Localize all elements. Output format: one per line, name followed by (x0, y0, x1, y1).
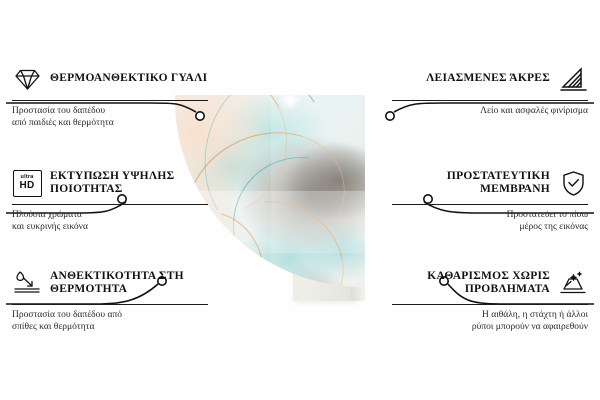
product-image (175, 95, 420, 325)
feature-title: ΛΕΙΑΣΜΕΝΕΣ ΆΚΡΕΣ (426, 72, 550, 86)
feature-description: Προστατεύει το πίσω μέρος της εικόνας (392, 210, 588, 233)
infographic-page: ΘΕΡΜΟΑΝΘΕΚΤΙΚΟ ΓΥΑΛΙ Προστασία του δαπέδ… (0, 0, 600, 400)
hd-badge-hd-label: HD (19, 181, 34, 191)
feature-description: Πλούσια χρώματα και ευκρινής εικόνα (12, 210, 208, 233)
feature-description: Λείο και ασφαλές φινίρισμα (392, 106, 588, 118)
ultra-hd-badge-icon: ultra HD (12, 168, 42, 198)
feature-description: Προστασία του δαπέδου από παιδιές και θε… (12, 106, 208, 129)
feature-high-quality-print: ultra HD ΕΚΤΥΠΩΣΗ ΥΨΗΛΗΣ ΠΟΙΟΤΗΤΑΣ Πλούσ… (12, 166, 208, 233)
feature-divider (12, 204, 208, 205)
flame-deflect-icon (12, 268, 42, 298)
feature-title: ΘΕΡΜΟΑΝΘΕΚΤΙΚΟ ΓΥΑΛΙ (50, 72, 207, 86)
feature-divider (392, 100, 588, 101)
feature-divider (12, 100, 208, 101)
feature-title: ΠΡΟΣΤΑΤΕΥΤΙΚΗ ΜΕΜΒΡΑΝΗ (392, 170, 550, 197)
feature-header: ΚΑΘΑΡΙΣΜΟΣ ΧΩΡΙΣ ΠΡΟΒΛΗΜΑΤΑ (392, 266, 588, 300)
feature-title: ΚΑΘΑΡΙΣΜΟΣ ΧΩΡΙΣ ΠΡΟΒΛΗΜΑΤΑ (392, 270, 550, 297)
hd-badge: ultra HD (13, 170, 42, 197)
feature-heat-durability: ΑΝΘΕΚΤΙΚΟΤΗΤΑ ΣΤΗ ΘΕΡΜΟΤΗΤΑ Προστασία το… (12, 266, 208, 333)
feature-description: Η αιθάλη, η στάχτη ή άλλοι ρύποι μπορούν… (392, 310, 588, 333)
feature-title: ΕΚΤΥΠΩΣΗ ΥΨΗΛΗΣ ΠΟΙΟΤΗΤΑΣ (50, 170, 208, 197)
diamond-icon (12, 64, 42, 94)
sparkle-clean-icon (558, 268, 588, 298)
feature-easy-cleaning: ΚΑΘΑΡΙΣΜΟΣ ΧΩΡΙΣ ΠΡΟΒΛΗΜΑΤΑ Η αιθάλη, η … (392, 266, 588, 333)
feature-protective-membrane: ΠΡΟΣΤΑΤΕΥΤΙΚΗ ΜΕΜΒΡΑΝΗ Προστατεύει το πί… (392, 166, 588, 233)
feature-heat-resistant-glass: ΘΕΡΜΟΑΝΘΕΚΤΙΚΟ ΓΥΑΛΙ Προστασία του δαπέδ… (12, 62, 208, 129)
shield-check-icon (558, 168, 588, 198)
feature-divider (12, 304, 208, 305)
polished-edge-icon (558, 64, 588, 94)
feature-header: ΠΡΟΣΤΑΤΕΥΤΙΚΗ ΜΕΜΒΡΑΝΗ (392, 166, 588, 200)
feature-header: ΘΕΡΜΟΑΝΘΕΚΤΙΚΟ ΓΥΑΛΙ (12, 62, 208, 96)
feature-divider (392, 304, 588, 305)
feature-header: ultra HD ΕΚΤΥΠΩΣΗ ΥΨΗΛΗΣ ΠΟΙΟΤΗΤΑΣ (12, 166, 208, 200)
feature-header: ΑΝΘΕΚΤΙΚΟΤΗΤΑ ΣΤΗ ΘΕΡΜΟΤΗΤΑ (12, 266, 208, 300)
feature-header: ΛΕΙΑΣΜΕΝΕΣ ΆΚΡΕΣ (392, 62, 588, 96)
feature-description: Προστασία του δαπέδου από σπίθες και θερ… (12, 310, 208, 333)
feature-divider (392, 204, 588, 205)
feature-title: ΑΝΘΕΚΤΙΚΟΤΗΤΑ ΣΤΗ ΘΕΡΜΟΤΗΤΑ (50, 270, 208, 297)
feature-polished-edges: ΛΕΙΑΣΜΕΝΕΣ ΆΚΡΕΣ Λείο και ασφαλές φινίρι… (392, 62, 588, 118)
